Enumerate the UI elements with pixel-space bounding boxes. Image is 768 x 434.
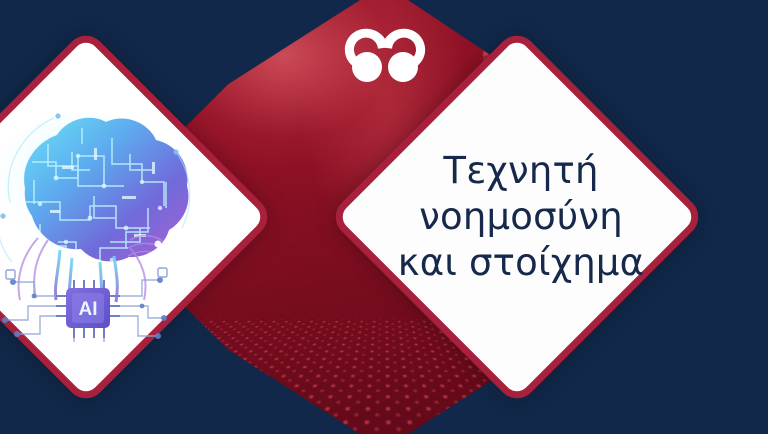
svg-text:AI: AI [79, 299, 98, 320]
headline-line-2: νοημοσύνη [398, 194, 644, 240]
artwork-card-inner: AI [0, 90, 213, 344]
page-title: Τεχνητή νοημοσύνη και στοίχημα [398, 148, 644, 287]
headline-line-3: και στοίχημα [398, 240, 644, 286]
circuit-brain-icon: AI [0, 92, 212, 342]
promo-banner: AI [0, 0, 768, 434]
headline-line-1: Τεχνητή [398, 148, 644, 194]
headline-card-inner: Τεχνητή νοημοσύνη και στοίχημα [390, 90, 644, 344]
oxo-logo-icon [342, 23, 428, 101]
